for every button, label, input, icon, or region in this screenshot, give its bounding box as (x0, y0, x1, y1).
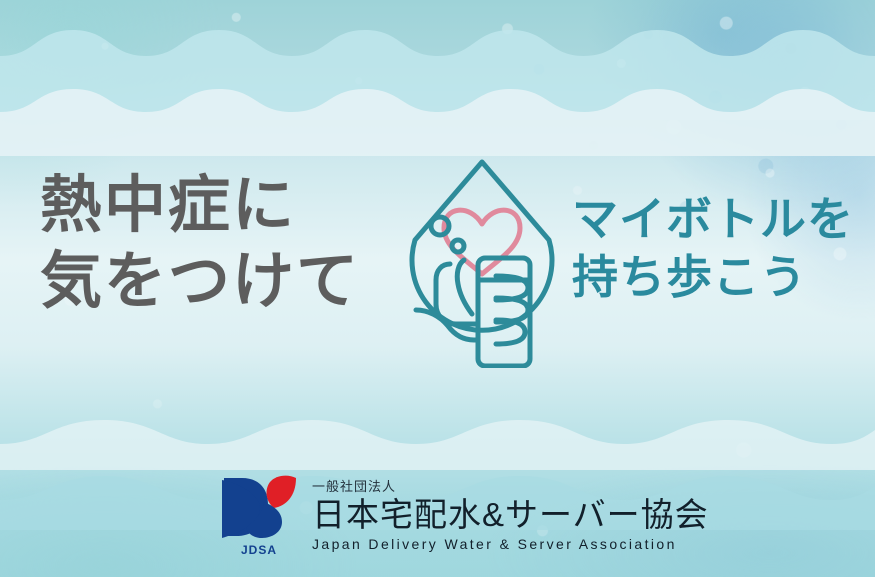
subline-line-2: 持ち歩こう (572, 251, 807, 303)
org-name-ja: 日本宅配水&サーバー協会 (312, 496, 709, 534)
jdsa-logo: JDSA 一般社団法人 日本宅配水&サーバー協会 Japan Delivery … (218, 472, 709, 556)
jdsa-logo-mark: JDSA (218, 472, 300, 556)
page-title: 熱中症に 気をつけて (40, 168, 360, 320)
jdsa-mark-icon (218, 472, 300, 542)
bubble-small-icon (452, 240, 464, 252)
poster-canvas: 熱中症に 気をつけて (0, 0, 875, 577)
jdsa-logo-text: 一般社団法人 日本宅配水&サーバー協会 Japan Delivery Water… (312, 476, 709, 556)
subheading: マイボトルを 持ち歩こう (572, 190, 854, 306)
water-droplet-icon (392, 152, 572, 368)
subline-line-1: マイボトルを (572, 193, 854, 245)
org-name-en: Japan Delivery Water & Server Associatio… (312, 536, 709, 552)
jdsa-mark-label: JDSA (218, 543, 300, 557)
headline-line-1: 熱中症に (40, 171, 296, 240)
org-kind-label: 一般社団法人 (312, 476, 709, 495)
headline-line-2: 気をつけて (40, 244, 360, 320)
poster-content: 熱中症に 気をつけて (0, 0, 875, 577)
hand-index-edge (457, 260, 472, 314)
